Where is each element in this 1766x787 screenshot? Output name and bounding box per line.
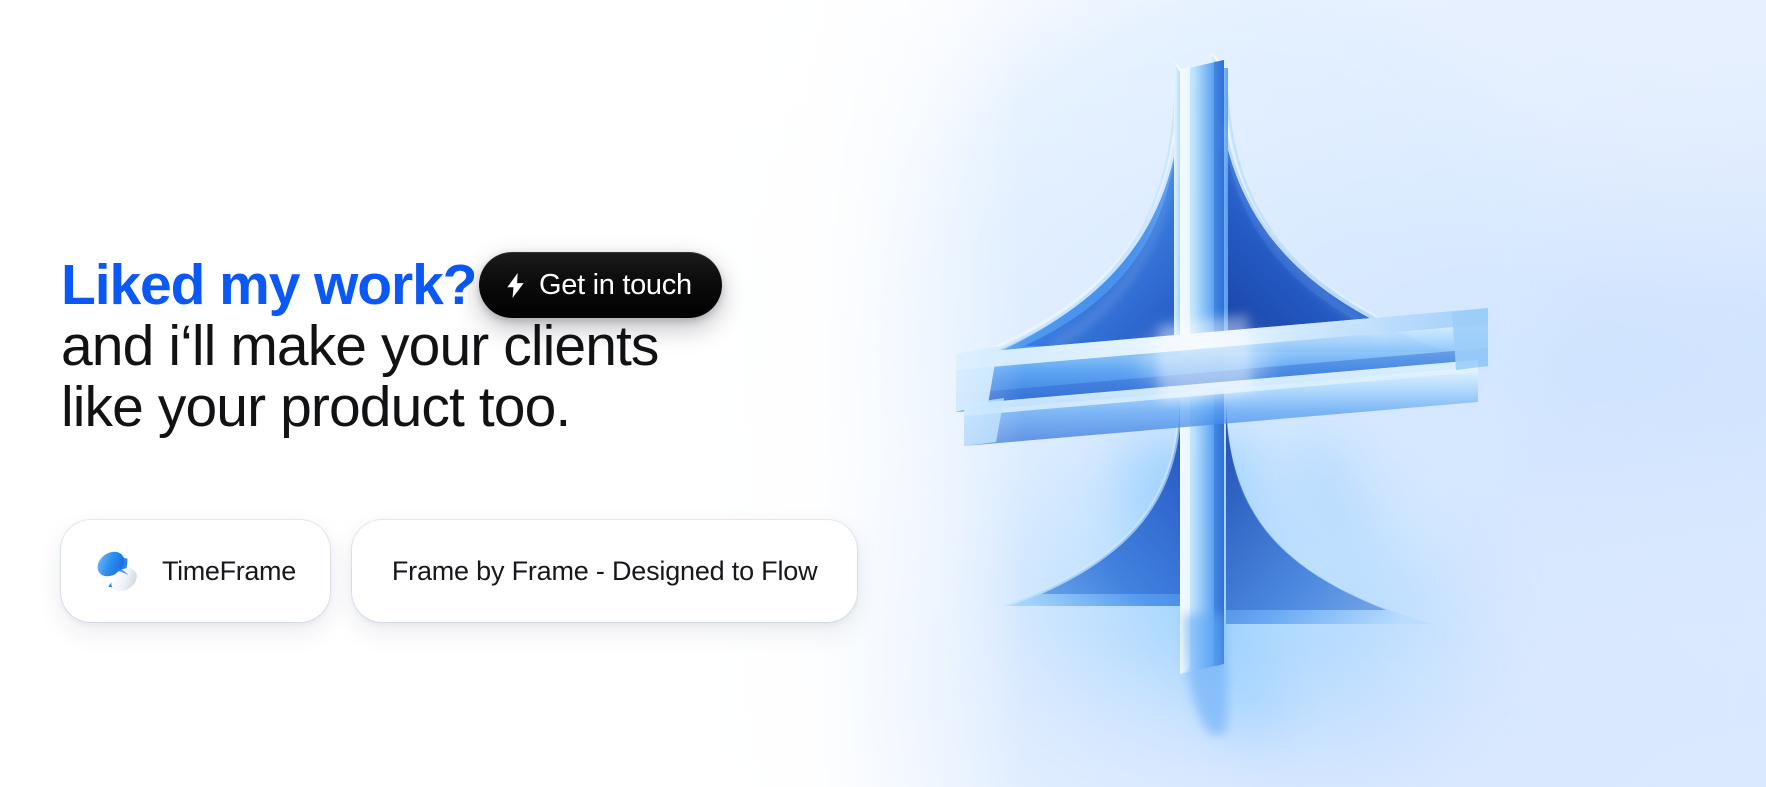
brand-chip-label: TimeFrame xyxy=(162,556,296,586)
page-title: Liked my work? Get in touch and i‘ll mak… xyxy=(61,255,901,438)
hero-section: Liked my work? Get in touch and i‘ll mak… xyxy=(0,0,1766,787)
get-in-touch-label: Get in touch xyxy=(539,271,692,300)
brand-chip-timeframe[interactable]: TimeFrame xyxy=(61,520,330,622)
glass-four-point-star-icon xyxy=(828,0,1628,734)
lightning-bolt-icon xyxy=(505,273,526,298)
headline-accent-text: Liked my work? xyxy=(61,253,476,317)
chip-row: TimeFrame Frame by Frame - Designed to F… xyxy=(61,520,857,622)
headline-line-3: like your product too. xyxy=(61,377,901,438)
get-in-touch-button[interactable]: Get in touch xyxy=(479,252,722,318)
tagline-chip[interactable]: Frame by Frame - Designed to Flow xyxy=(352,520,858,622)
headline-line-1: Liked my work? Get in touch xyxy=(61,255,901,316)
timeframe-logo-icon xyxy=(89,543,145,599)
artwork-under-glow xyxy=(952,430,1512,787)
hero-content: Liked my work? Get in touch and i‘ll mak… xyxy=(61,0,921,787)
tagline-chip-label: Frame by Frame - Designed to Flow xyxy=(392,556,818,586)
headline-line-2: and i‘ll make your clients xyxy=(61,316,901,377)
